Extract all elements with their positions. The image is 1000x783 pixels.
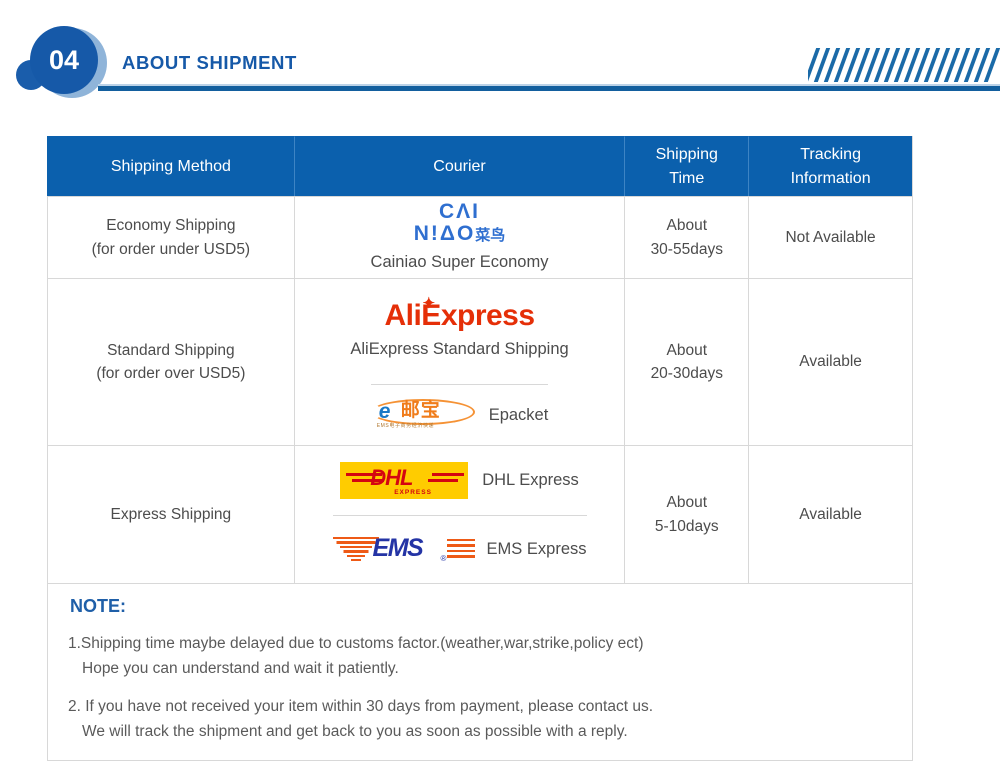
shipping-time-line1: About — [651, 214, 723, 237]
courier-entry: ✦ AliExpress AliExpress Standard Shippin… — [350, 279, 568, 384]
table-row: Express Shipping DHL EXPRESS DH — [47, 445, 912, 583]
courier-entry: DHL EXPRESS DHL Express — [340, 446, 579, 515]
cainiao-logo-cn: 菜鸟 — [475, 227, 505, 244]
courier-label: AliExpress Standard Shipping — [350, 337, 568, 362]
column-header-shipping-method: Shipping Method — [47, 136, 294, 196]
epacket-logo: e 邮宝 EMS电子商务经济快递 — [371, 398, 475, 432]
diagonal-stripes-decoration — [808, 48, 1000, 82]
dhl-logo-text: DHL — [370, 467, 412, 489]
dhl-logo-bar — [432, 473, 464, 476]
title-rule-bold — [98, 86, 1000, 91]
shipping-time-line2: 20-30days — [651, 362, 723, 385]
method-line2: (for order under USD5) — [92, 238, 251, 261]
aliexpress-logo-text: AliExpress — [384, 299, 534, 332]
cell-courier: ✦ AliExpress AliExpress Standard Shippin… — [294, 278, 625, 445]
cell-courier: CΛI N!ΔO菜鸟 Cainiao Super Economy — [294, 196, 625, 278]
cell-shipping-method: Express Shipping — [47, 445, 294, 583]
ems-logo: EMS ® — [333, 533, 473, 567]
cainiao-logo-line1: CΛI — [414, 201, 506, 222]
cell-shipping-time: About 20-30days — [624, 278, 748, 445]
courier-entry: CΛI N!ΔO菜鸟 Cainiao Super Economy — [371, 201, 549, 275]
courier-label: Epacket — [489, 403, 549, 428]
table-row: Economy Shipping (for order under USD5) … — [47, 196, 912, 278]
shipment-info-page: 04 ABOUT SHIPMENT Shipping Method Courie… — [0, 0, 1000, 783]
note-title: NOTE: — [70, 596, 126, 617]
cell-tracking-information: Available — [748, 445, 912, 583]
shipping-methods-table: Shipping Method Courier Shipping Time Tr… — [47, 136, 913, 584]
dhl-logo-bar — [428, 479, 458, 482]
courier-label: DHL Express — [482, 468, 579, 493]
shipping-time-line1: About — [651, 339, 723, 362]
cell-shipping-time: About 30-55days — [624, 196, 748, 278]
epacket-logo-tagline: EMS电子商务经济快递 — [377, 423, 434, 431]
note-item-line2: Hope you can understand and wait it pati… — [68, 656, 644, 681]
table-header-row: Shipping Method Courier Shipping Time Tr… — [47, 136, 912, 196]
section-header: 04 ABOUT SHIPMENT — [0, 0, 1000, 110]
note-box: NOTE: 1.Shipping time maybe delayed due … — [47, 584, 913, 761]
section-number-badge: 04 — [30, 26, 98, 94]
cainiao-logo-line2: N!ΔO — [414, 222, 476, 245]
courier-entry: e 邮宝 EMS电子商务经济快递 Epacket — [371, 384, 549, 445]
note-item-line1: 2. If you have not received your item wi… — [68, 698, 653, 715]
cell-courier: DHL EXPRESS DHL Express — [294, 445, 625, 583]
cell-shipping-method: Standard Shipping (for order over USD5) — [47, 278, 294, 445]
shipping-time-line2: 5-10days — [655, 515, 719, 538]
epacket-logo-e: e — [379, 401, 391, 422]
method-line1: Standard Shipping — [96, 339, 245, 362]
shipping-time-line1: About — [655, 491, 719, 514]
method-line1: Economy Shipping — [92, 214, 251, 237]
column-header-tracking-line2: Information — [791, 167, 871, 191]
column-header-courier: Courier — [294, 136, 625, 196]
cell-tracking-information: Not Available — [748, 196, 912, 278]
column-header-shipping-time: Shipping Time — [624, 136, 748, 196]
epacket-logo-cn: 邮宝 — [401, 401, 441, 420]
aliexpress-logo-star: ✦ — [422, 296, 434, 311]
method-line2: (for order over USD5) — [96, 362, 245, 385]
note-item: 1.Shipping time maybe delayed due to cus… — [68, 631, 644, 681]
section-number: 04 — [49, 47, 79, 74]
column-header-shipping-time-line1: Shipping — [656, 143, 718, 167]
column-header-shipping-time-line2: Time — [656, 167, 718, 191]
shipping-time-line2: 30-55days — [651, 238, 723, 261]
cell-shipping-method: Economy Shipping (for order under USD5) — [47, 196, 294, 278]
dhl-logo-sub: EXPRESS — [394, 488, 432, 498]
ems-logo-bars — [447, 539, 475, 561]
note-item-line1: 1.Shipping time maybe delayed due to cus… — [68, 635, 644, 652]
ems-logo-text: EMS — [373, 536, 423, 561]
dhl-logo: DHL EXPRESS — [340, 462, 468, 499]
column-header-tracking-line1: Tracking — [791, 143, 871, 167]
cainiao-logo: CΛI N!ΔO菜鸟 — [414, 201, 506, 244]
note-item: 2. If you have not received your item wi… — [68, 694, 653, 744]
note-item-line2: We will track the shipment and get back … — [68, 719, 653, 744]
column-header-tracking-information: Tracking Information — [748, 136, 912, 196]
method-line1: Express Shipping — [111, 503, 232, 526]
page-title: ABOUT SHIPMENT — [122, 52, 297, 74]
courier-entry: EMS ® EMS Express — [333, 515, 587, 583]
courier-label: EMS Express — [487, 537, 587, 562]
cell-shipping-time: About 5-10days — [624, 445, 748, 583]
table-row: Standard Shipping (for order over USD5) … — [47, 278, 912, 445]
aliexpress-logo: ✦ AliExpress — [384, 301, 534, 331]
courier-label: Cainiao Super Economy — [371, 250, 549, 275]
cell-tracking-information: Available — [748, 278, 912, 445]
